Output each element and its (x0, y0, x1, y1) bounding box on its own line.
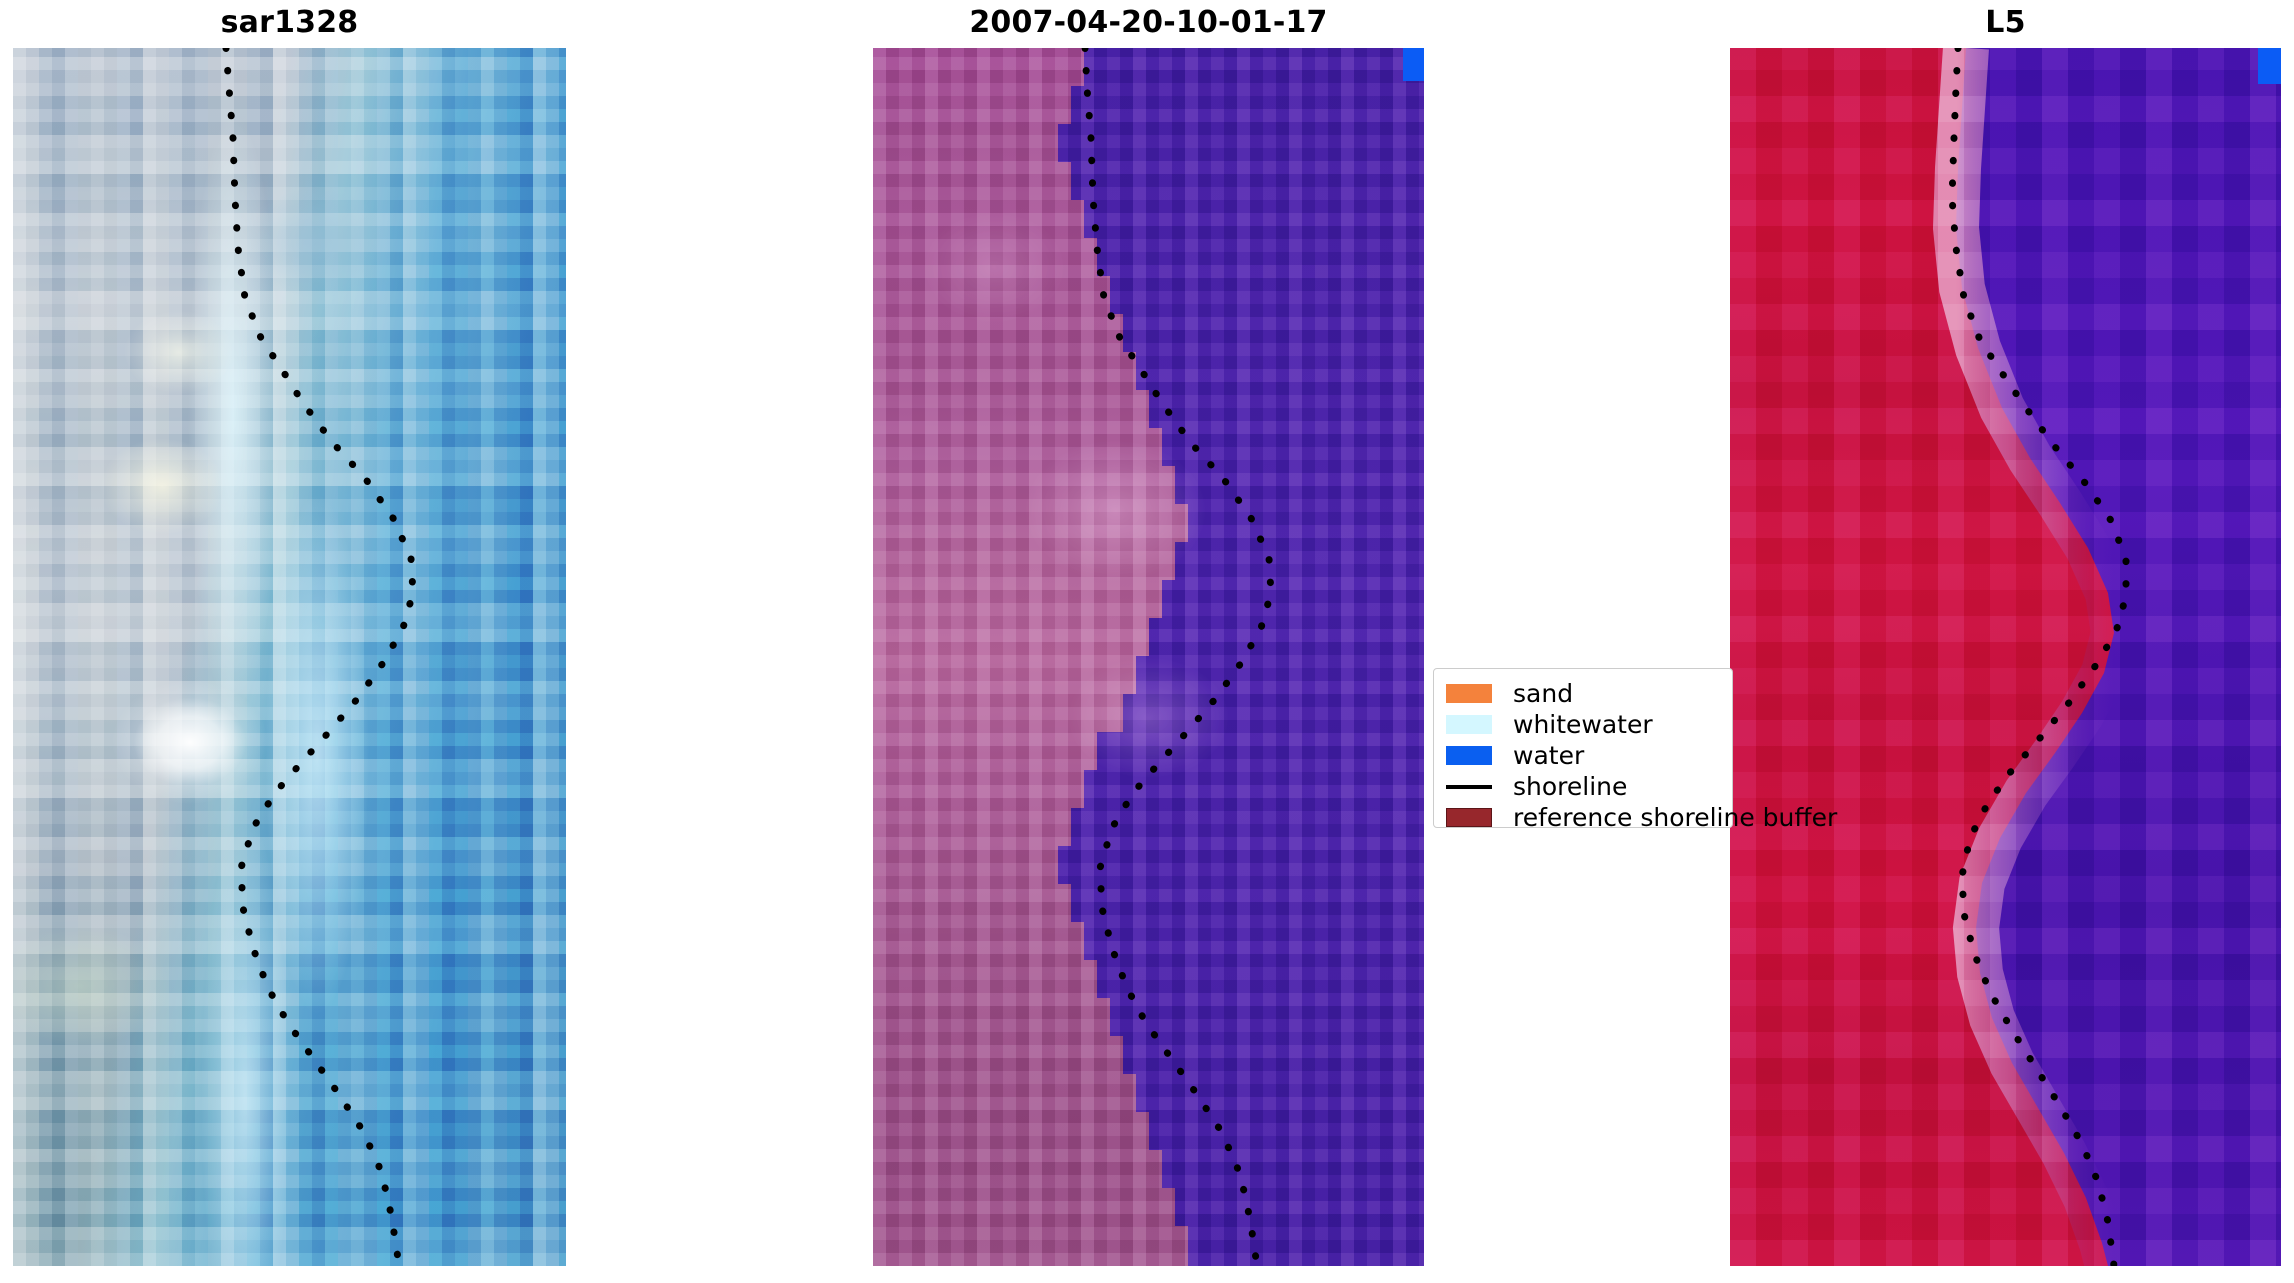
panel-title-classified: 2007-04-20-10-01-17 (873, 8, 1424, 38)
legend-label-water: water (1513, 743, 1584, 768)
sand-swatch (1446, 684, 1492, 703)
sar-panel[interactable] (13, 48, 566, 1266)
water-corner-marker-classified (1403, 48, 1424, 81)
panel-title-l5: L5 (1730, 8, 2281, 38)
classified-bright-layer (873, 48, 1424, 1266)
l5-texture-layer (1730, 48, 2281, 1266)
classified-panel[interactable] (873, 48, 1424, 1266)
classification-legend: sand whitewater water shoreline referenc… (1433, 668, 1733, 828)
shoreline-line-sample (1446, 785, 1492, 789)
panel-title-sar: sar1328 (13, 8, 566, 38)
legend-label-whitewater: whitewater (1513, 712, 1653, 737)
legend-label-sand: sand (1513, 681, 1573, 706)
legend-label-shoreline: shoreline (1513, 774, 1627, 799)
whitewater-swatch (1446, 715, 1492, 734)
legend-item-sand: sand (1446, 678, 1722, 709)
water-swatch (1446, 746, 1492, 765)
reference-shoreline-buffer-swatch (1446, 808, 1492, 827)
sar-bright-blob (13, 48, 566, 1266)
legend-item-shoreline: shoreline (1446, 771, 1722, 802)
legend-item-whitewater: whitewater (1446, 709, 1722, 740)
l5-panel[interactable] (1730, 48, 2281, 1266)
legend-label-reference-shoreline-buffer: reference shoreline buffer (1513, 805, 1837, 830)
legend-item-water: water (1446, 740, 1722, 771)
legend-item-reference-shoreline-buffer: reference shoreline buffer (1446, 802, 1722, 833)
figure-canvas: sar1328 2007-04-20-10-01-17 (0, 0, 2294, 1283)
water-corner-marker-l5 (2258, 48, 2281, 84)
